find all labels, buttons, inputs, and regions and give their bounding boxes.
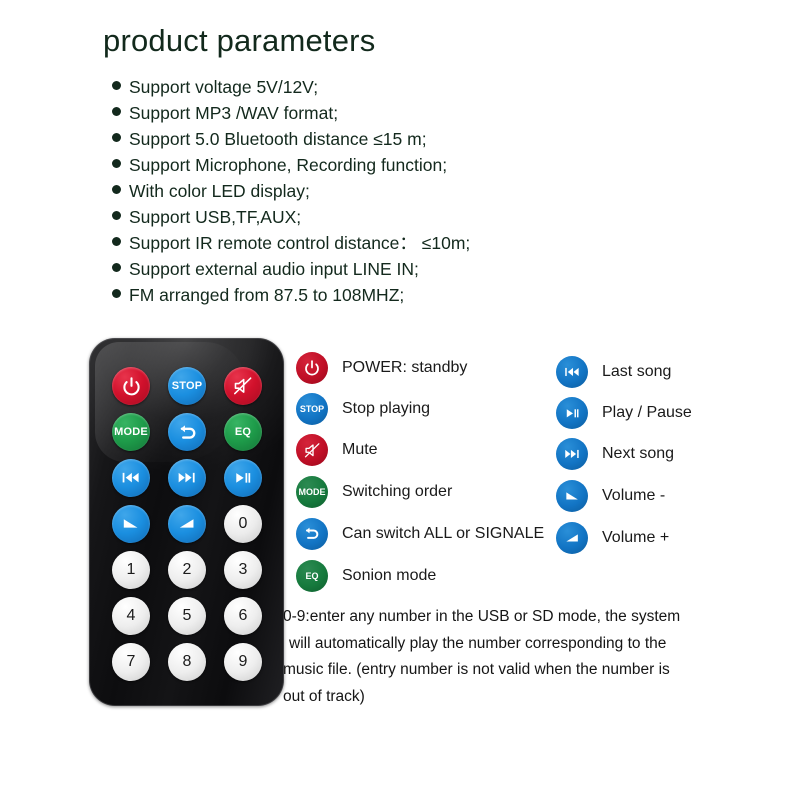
legend-item: MODESwitching order	[296, 476, 452, 508]
spec-item-label: Support voltage 5V/12V;	[129, 74, 318, 100]
remote-key-digit-7[interactable]: 7	[112, 643, 150, 681]
bullet-icon	[112, 81, 121, 90]
bullet-icon	[112, 133, 121, 142]
remote-key-power-icon[interactable]	[112, 367, 150, 405]
eq-text: EQ	[296, 560, 328, 592]
legend-icon-text: STOP	[300, 404, 324, 414]
remote-key-previous-track-icon[interactable]	[112, 459, 150, 497]
stop-text: STOP	[296, 393, 328, 425]
mode-text: MODE	[296, 476, 328, 508]
remote-key-digit-3[interactable]: 3	[224, 551, 262, 589]
spec-item-label: Support USB,TF,AUX;	[129, 204, 301, 230]
legend-icon-text: EQ	[305, 571, 318, 581]
legend-item-label: Play / Pause	[602, 403, 692, 423]
remote-key-digit-1[interactable]: 1	[112, 551, 150, 589]
remote-key-label: 1	[126, 561, 135, 579]
legend-item-label: Next song	[602, 444, 674, 464]
legend-item: Volume -	[556, 480, 665, 512]
legend-item: Last song	[556, 356, 671, 388]
remote-key-mute-icon[interactable]	[224, 367, 262, 405]
spec-item-label: Support 5.0 Bluetooth distance ≤15 m;	[129, 126, 427, 152]
remote-key-digit-2[interactable]: 2	[168, 551, 206, 589]
remote-key-digit-0[interactable]: 0	[224, 505, 262, 543]
spec-item: Support Microphone, Recording function;	[112, 152, 632, 178]
remote-key-digit-8[interactable]: 8	[168, 643, 206, 681]
legend-item: Next song	[556, 438, 674, 470]
legend-item: EQSonion mode	[296, 560, 436, 592]
spec-item: FM arranged from 87.5 to 108MHZ;	[112, 282, 632, 308]
legend-item-label: Volume +	[602, 528, 669, 548]
remote-key-label: 5	[182, 607, 191, 625]
bullet-icon	[112, 159, 121, 168]
legend-item-label: Sonion mode	[342, 566, 436, 586]
remote-key-label: STOP	[172, 380, 203, 392]
play-pause-icon	[556, 397, 588, 429]
previous-track-icon	[556, 356, 588, 388]
spec-item: Support MP3 /WAV format;	[112, 100, 632, 126]
remote-control-device: STOPMODEEQ0123456789	[89, 338, 284, 706]
remote-key-digit-6[interactable]: 6	[224, 597, 262, 635]
spec-item-label: With color LED display;	[129, 178, 310, 204]
spec-item: Support voltage 5V/12V;	[112, 74, 632, 100]
remote-key-volume-up-icon[interactable]	[168, 505, 206, 543]
legend-item-label: Can switch ALL or SIGNALE	[342, 524, 544, 544]
legend-item: Can switch ALL or SIGNALE	[296, 518, 544, 550]
remote-keypad: STOPMODEEQ0123456789	[103, 363, 271, 685]
bullet-icon	[112, 107, 121, 116]
remote-key-mode-text[interactable]: MODE	[112, 413, 150, 451]
loop-arrow-icon	[296, 518, 328, 550]
volume-down-icon	[556, 480, 588, 512]
spec-item: Support external audio input LINE IN;	[112, 256, 632, 282]
bullet-icon	[112, 289, 121, 298]
spec-item-label: Support IR remote control distance： ≤10m…	[129, 230, 470, 256]
legend-item: Volume +	[556, 522, 669, 554]
bullet-icon	[112, 211, 121, 220]
bullet-icon	[112, 185, 121, 194]
remote-key-label: 3	[238, 561, 247, 579]
legend-item-label: Mute	[342, 440, 378, 460]
remote-key-eq-text[interactable]: EQ	[224, 413, 262, 451]
remote-key-digit-5[interactable]: 5	[168, 597, 206, 635]
remote-key-volume-down-icon[interactable]	[112, 505, 150, 543]
spec-item-label: Support external audio input LINE IN;	[129, 256, 419, 282]
specification-list: Support voltage 5V/12V;Support MP3 /WAV …	[112, 74, 632, 308]
remote-key-label: 6	[238, 607, 247, 625]
remote-key-label: 8	[182, 653, 191, 671]
spec-item-label: FM arranged from 87.5 to 108MHZ;	[129, 282, 404, 308]
power-icon	[296, 352, 328, 384]
next-track-icon	[556, 438, 588, 470]
bullet-icon	[112, 237, 121, 246]
legend-item-label: Volume -	[602, 486, 665, 506]
remote-key-loop-arrow-icon[interactable]	[168, 413, 206, 451]
page-title: product parameters	[103, 22, 375, 60]
legend-item: STOPStop playing	[296, 393, 430, 425]
note-line: will automatically play the number corre…	[283, 631, 713, 658]
spec-item: Support USB,TF,AUX;	[112, 204, 632, 230]
remote-key-stop-text[interactable]: STOP	[168, 367, 206, 405]
remote-key-play-pause-icon[interactable]	[224, 459, 262, 497]
remote-key-label: 2	[182, 561, 191, 579]
legend-item: POWER: standby	[296, 352, 467, 384]
note-line: 0-9:enter any number in the USB or SD mo…	[283, 604, 713, 631]
legend-item-label: Stop playing	[342, 399, 430, 419]
legend-icon-text: MODE	[299, 487, 326, 497]
remote-key-label: 9	[238, 653, 247, 671]
spec-item: Support 5.0 Bluetooth distance ≤15 m;	[112, 126, 632, 152]
spec-item-label: Support Microphone, Recording function;	[129, 152, 447, 178]
remote-key-next-track-icon[interactable]	[168, 459, 206, 497]
remote-key-label: 0	[238, 515, 247, 533]
note-line: music file. (entry number is not valid w…	[283, 657, 713, 684]
volume-up-icon	[556, 522, 588, 554]
note-line: out of track)	[283, 684, 713, 711]
remote-key-label: EQ	[235, 426, 251, 438]
remote-key-label: 4	[126, 607, 135, 625]
legend-item-label: Switching order	[342, 482, 452, 502]
legend-item: Mute	[296, 434, 378, 466]
remote-key-label: MODE	[114, 426, 148, 438]
spec-item: Support IR remote control distance： ≤10m…	[112, 230, 632, 256]
legend-item: Play / Pause	[556, 397, 692, 429]
bullet-icon	[112, 263, 121, 272]
legend-item-label: Last song	[602, 362, 671, 382]
product-parameters-page: product parameters Support voltage 5V/12…	[0, 0, 800, 800]
mute-icon	[296, 434, 328, 466]
spec-item: With color LED display;	[112, 178, 632, 204]
number-keys-note: 0-9:enter any number in the USB or SD mo…	[283, 604, 713, 710]
remote-key-digit-4[interactable]: 4	[112, 597, 150, 635]
legend-item-label: POWER: standby	[342, 358, 467, 378]
remote-key-digit-9[interactable]: 9	[224, 643, 262, 681]
remote-key-label: 7	[126, 653, 135, 671]
spec-item-label: Support MP3 /WAV format;	[129, 100, 338, 126]
